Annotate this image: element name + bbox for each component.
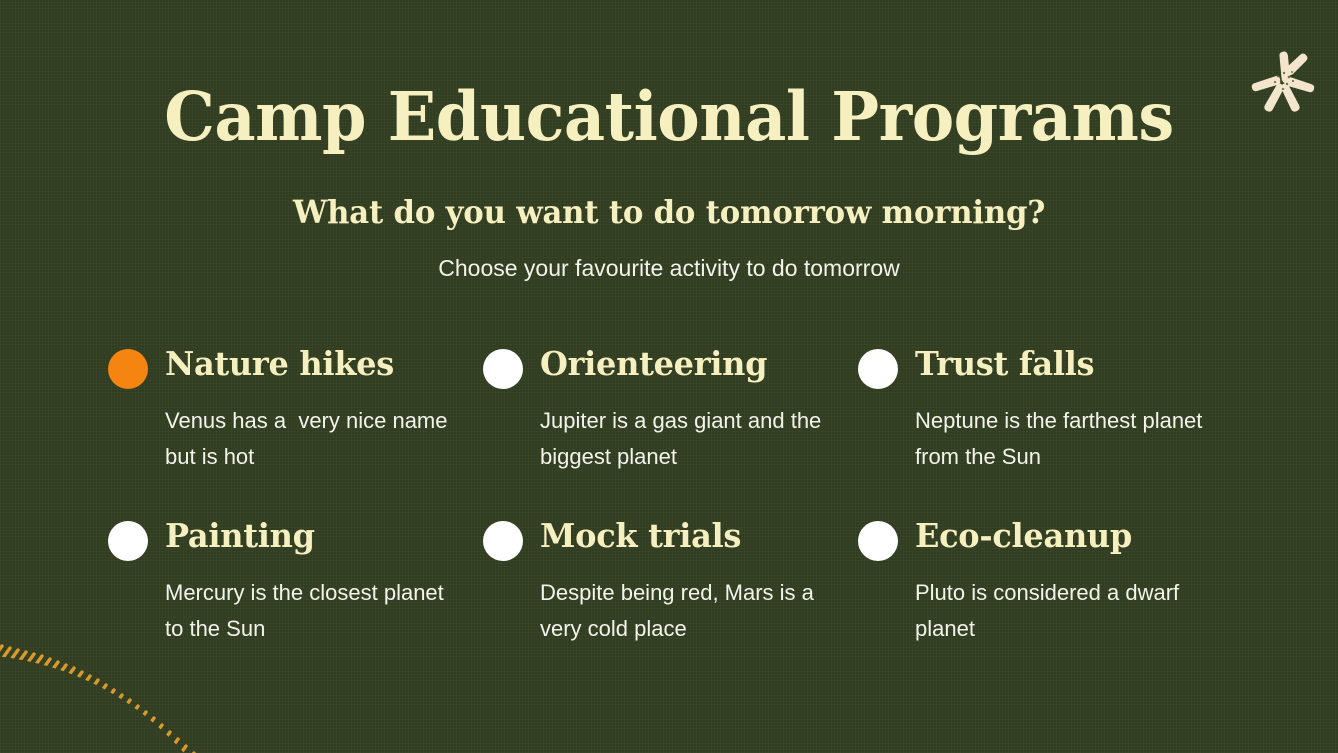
option-description: Jupiter is a gas giant and the biggest p… [540,403,840,475]
option-header[interactable]: Trust falls [858,343,1212,389]
option-label: Mock trials [540,515,741,557]
option-trust-falls[interactable]: Trust falls Neptune is the farthest plan… [858,343,1230,515]
asterisk-star-icon [1248,46,1322,120]
page-caption: Choose your favourite activity to do tom… [0,252,1338,284]
option-painting[interactable]: Painting Mercury is the closest planet t… [108,515,483,647]
radio-orienteering[interactable] [483,349,523,389]
option-nature-hikes[interactable]: Nature hikes Venus has a very nice name … [108,343,483,515]
option-description: Pluto is considered a dwarf planet [915,575,1212,647]
option-description: Neptune is the farthest planet from the … [915,403,1212,475]
option-description: Despite being red, Mars is a very cold p… [540,575,840,647]
option-header[interactable]: Painting [108,515,465,561]
hatched-arc-icon [0,636,320,753]
option-header[interactable]: Mock trials [483,515,840,561]
option-label: Trust falls [915,343,1094,385]
option-label: Orienteering [540,343,767,385]
option-orienteering[interactable]: Orienteering Jupiter is a gas giant and … [483,343,858,515]
radio-painting[interactable] [108,521,148,561]
radio-mock-trials[interactable] [483,521,523,561]
option-header[interactable]: Nature hikes [108,343,465,389]
activity-options-grid: Nature hikes Venus has a very nice name … [108,343,1230,647]
option-label: Nature hikes [165,343,394,385]
radio-nature-hikes[interactable] [108,349,148,389]
option-description: Mercury is the closest planet to the Sun [165,575,465,647]
page-title: Camp Educational Programs [33,76,1304,158]
option-header[interactable]: Orienteering [483,343,840,389]
option-eco-cleanup[interactable]: Eco-cleanup Pluto is considered a dwarf … [858,515,1230,647]
option-mock-trials[interactable]: Mock trials Despite being red, Mars is a… [483,515,858,647]
option-label: Eco-cleanup [915,515,1132,557]
radio-eco-cleanup[interactable] [858,521,898,561]
option-header[interactable]: Eco-cleanup [858,515,1212,561]
page-subtitle: What do you want to do tomorrow morning? [27,190,1311,234]
slide-canvas: Camp Educational Programs What do you wa… [0,0,1338,753]
option-label: Painting [165,515,315,557]
radio-trust-falls[interactable] [858,349,898,389]
option-description: Venus has a very nice name but is hot [165,403,465,475]
